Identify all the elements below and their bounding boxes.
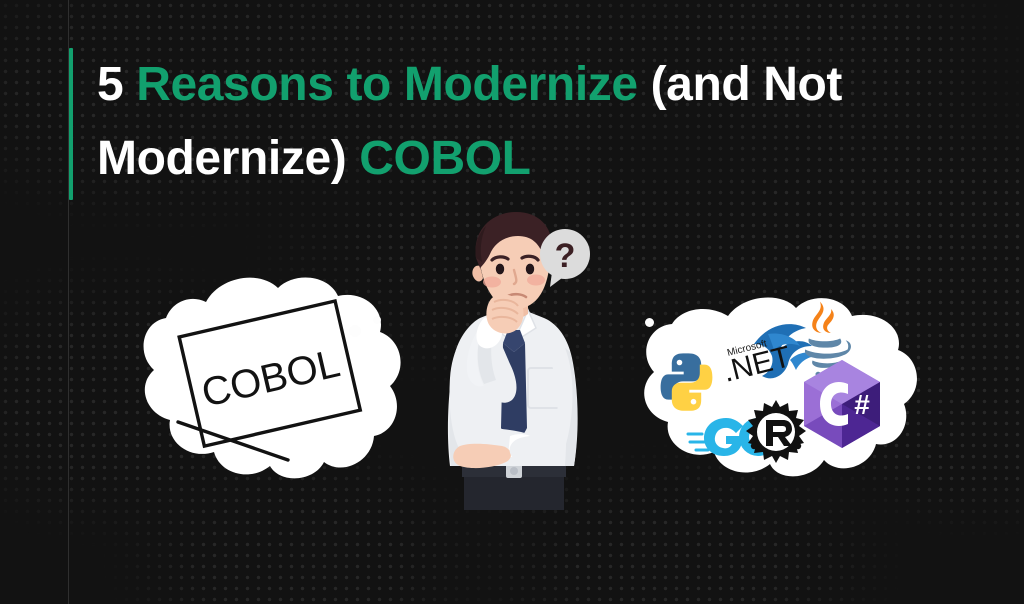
question-mark: ?	[555, 237, 576, 275]
eye-right	[526, 264, 534, 275]
csharp-hash: #	[854, 389, 870, 420]
thought-trail-dot	[373, 316, 381, 324]
eye-left	[496, 264, 504, 275]
thinking-businessman: ?	[424, 210, 604, 510]
title-segment-modernize: Reasons to Modernize	[136, 58, 637, 111]
title-segment-cobol: COBOL	[359, 132, 530, 185]
thought-trail-dot	[349, 325, 361, 337]
modern-cloud-svg: Microsoft .NET #	[636, 292, 926, 482]
title-segment-and-not: (and Not	[638, 58, 842, 111]
page-title-line-2: Modernize) COBOL	[97, 122, 842, 196]
page-title-line-1: 5 Reasons to Modernize (and Not	[97, 48, 842, 122]
title-segment-modernize-close: Modernize)	[97, 132, 359, 185]
legacy-cloud-svg: COBOL	[128, 270, 408, 485]
accent-bar	[69, 48, 73, 200]
headline-block: 5 Reasons to Modernize (and Not Moderniz…	[69, 48, 919, 200]
title-segment-count: 5	[97, 58, 136, 111]
legacy-cloud: COBOL	[128, 270, 408, 485]
question-bubble-svg: ?	[536, 228, 594, 288]
question-thought-bubble: ?	[536, 228, 594, 288]
modern-languages-cloud: Microsoft .NET #	[636, 292, 926, 482]
page-title: 5 Reasons to Modernize (and Not Moderniz…	[97, 48, 842, 196]
hero-illustration: COBOL	[0, 210, 1024, 540]
